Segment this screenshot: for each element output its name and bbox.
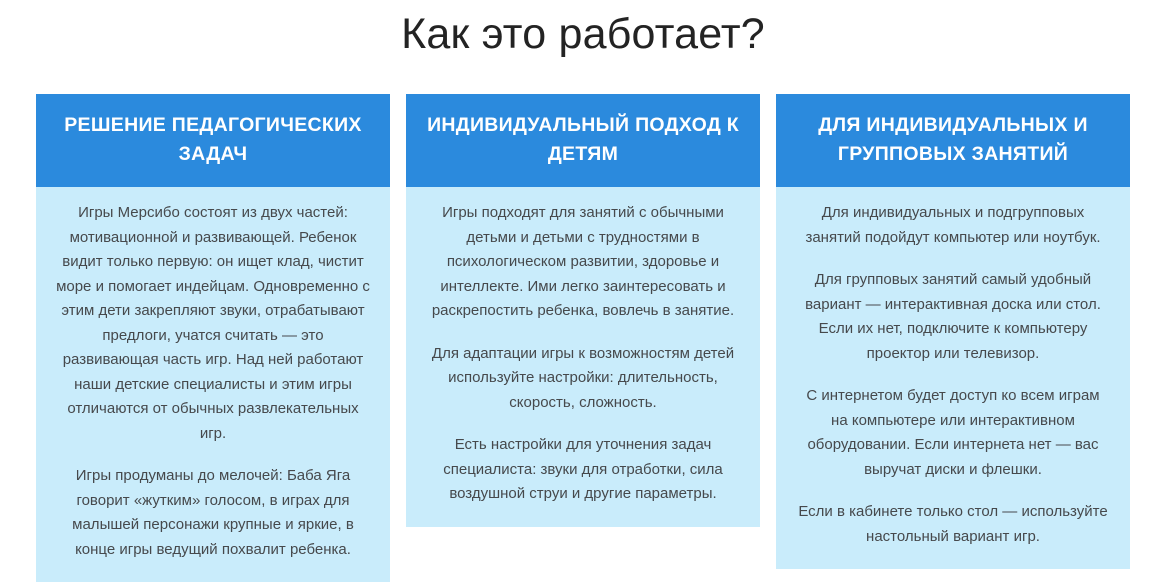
card-paragraph: Есть настройки для уточнения задач специ… xyxy=(426,433,740,507)
page-root: Как это работает? РЕШЕНИЕ ПЕДАГОГИЧЕСКИХ… xyxy=(0,0,1166,511)
card-body-group-lessons: Для индивидуальных и подгрупповых заняти… xyxy=(776,187,1130,569)
card-paragraph: Для индивидуальных и подгрупповых заняти… xyxy=(796,201,1110,250)
page-title: Как это работает? xyxy=(0,0,1166,64)
card-paragraph: Для групповых занятий самый удобный вари… xyxy=(796,268,1110,366)
card-paragraph: Игры Мерсибо состоят из двух частей: мот… xyxy=(56,201,370,446)
feature-card-individual-approach: ИНДИВИДУАЛЬНЫЙ ПОДХОД К ДЕТЯМ Игры подхо… xyxy=(406,94,760,527)
card-paragraph: Игры подходят для занятий с обычными дет… xyxy=(426,201,740,324)
feature-card-list: РЕШЕНИЕ ПЕДАГОГИЧЕСКИХ ЗАДАЧ Игры Мерсиб… xyxy=(36,94,1130,582)
card-body-pedagogical-tasks: Игры Мерсибо состоят из двух частей: мот… xyxy=(36,187,390,582)
card-paragraph: Если в кабинете только стол — используйт… xyxy=(796,500,1110,549)
card-header-pedagogical-tasks: РЕШЕНИЕ ПЕДАГОГИЧЕСКИХ ЗАДАЧ xyxy=(36,94,390,187)
card-paragraph: С интернетом будет доступ ко всем играм … xyxy=(796,384,1110,482)
card-paragraph: Для адаптации игры к возможностям детей … xyxy=(426,342,740,416)
card-header-individual-approach: ИНДИВИДУАЛЬНЫЙ ПОДХОД К ДЕТЯМ xyxy=(406,94,760,187)
feature-card-group-lessons: ДЛЯ ИНДИВИДУАЛЬНЫХ И ГРУППОВЫХ ЗАНЯТИЙ Д… xyxy=(776,94,1130,569)
card-body-individual-approach: Игры подходят для занятий с обычными дет… xyxy=(406,187,760,527)
card-header-group-lessons: ДЛЯ ИНДИВИДУАЛЬНЫХ И ГРУППОВЫХ ЗАНЯТИЙ xyxy=(776,94,1130,187)
feature-card-pedagogical-tasks: РЕШЕНИЕ ПЕДАГОГИЧЕСКИХ ЗАДАЧ Игры Мерсиб… xyxy=(36,94,390,582)
card-paragraph: Игры продуманы до мелочей: Баба Яга гово… xyxy=(56,464,370,562)
